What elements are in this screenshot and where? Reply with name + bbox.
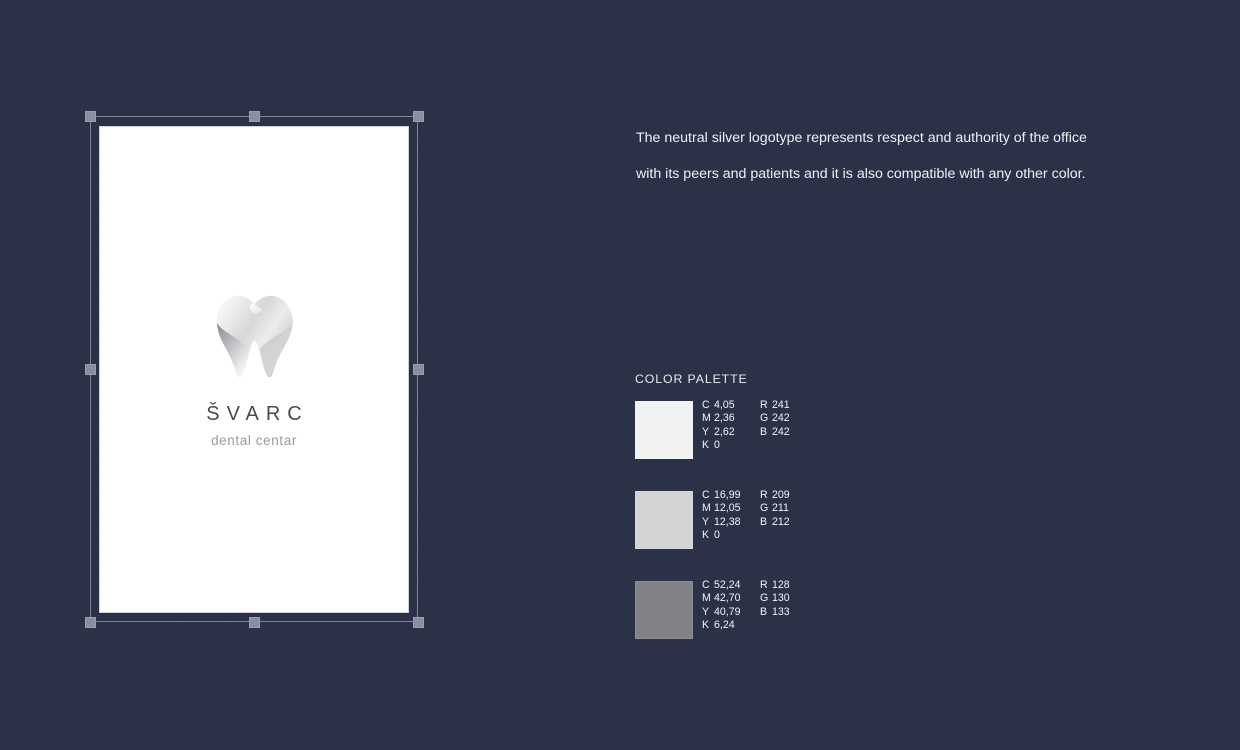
swatch-values: C52,24M42,70Y40,79K6,24R128G130B133 [702,579,820,633]
value-c: C52,24 [702,579,760,592]
description-paragraph: The neutral silver logotype represents r… [636,120,1156,192]
brand-tagline: dental centar [100,433,408,448]
resize-handle-top-left[interactable] [85,111,96,122]
swatch-rgb-values: R241G242B242 [760,399,820,453]
value-g: G242 [760,412,820,425]
value-b: B242 [760,426,820,439]
color-palette-section: COLOR PALETTE C4,05M2,36Y2,62K0R241G242B… [635,372,965,671]
value-b: B133 [760,606,820,619]
resize-handle-middle-right[interactable] [413,364,424,375]
description-line-2: with its peers and patients and it is al… [636,156,1156,192]
resize-handle-middle-left[interactable] [85,364,96,375]
swatch-rgb-values: R128G130B133 [760,579,820,633]
resize-handle-bottom-right[interactable] [413,617,424,628]
resize-handle-top-right[interactable] [413,111,424,122]
resize-handle-bottom-left[interactable] [85,617,96,628]
logo-artboard[interactable]: ŠVARC dental centar [99,126,409,613]
swatch-silver-light[interactable] [635,491,693,549]
description-line-1: The neutral silver logotype represents r… [636,120,1156,156]
value-c: C16,99 [702,489,760,502]
value-r: R241 [760,399,820,412]
brand-name: ŠVARC [100,403,408,426]
swatch-values: C16,99M12,05Y12,38K0R209G211B212 [702,489,820,543]
value-y: Y12,38 [702,516,760,529]
value-r: R209 [760,489,820,502]
swatch-cmyk-values: C52,24M42,70Y40,79K6,24 [702,579,760,633]
swatch-row: C52,24M42,70Y40,79K6,24R128G130B133 [635,581,965,639]
value-m: M2,36 [702,412,760,425]
value-r: R128 [760,579,820,592]
value-y: Y40,79 [702,606,760,619]
value-k: K0 [702,529,760,542]
value-m: M42,70 [702,592,760,605]
swatch-cmyk-values: C4,05M2,36Y2,62K0 [702,399,760,453]
value-m: M12,05 [702,502,760,515]
value-g: G211 [760,502,820,515]
color-palette-heading: COLOR PALETTE [635,372,965,386]
swatch-rgb-values: R209G211B212 [760,489,820,543]
swatch-silver-lightest[interactable] [635,401,693,459]
value-g: G130 [760,592,820,605]
value-c: C4,05 [702,399,760,412]
value-b: B212 [760,516,820,529]
swatch-row: C4,05M2,36Y2,62K0R241G242B242 [635,401,965,459]
swatch-silver-dark[interactable] [635,581,693,639]
swatch-list: C4,05M2,36Y2,62K0R241G242B242C16,99M12,0… [635,401,965,639]
value-k: K6,24 [702,619,760,632]
swatch-values: C4,05M2,36Y2,62K0R241G242B242 [702,399,820,453]
tooth-icon [213,295,295,379]
value-k: K0 [702,439,760,452]
swatch-cmyk-values: C16,99M12,05Y12,38K0 [702,489,760,543]
resize-handle-bottom-center[interactable] [249,617,260,628]
swatch-row: C16,99M12,05Y12,38K0R209G211B212 [635,491,965,549]
value-y: Y2,62 [702,426,760,439]
logo-lockup: ŠVARC dental centar [100,295,408,448]
resize-handle-top-center[interactable] [249,111,260,122]
